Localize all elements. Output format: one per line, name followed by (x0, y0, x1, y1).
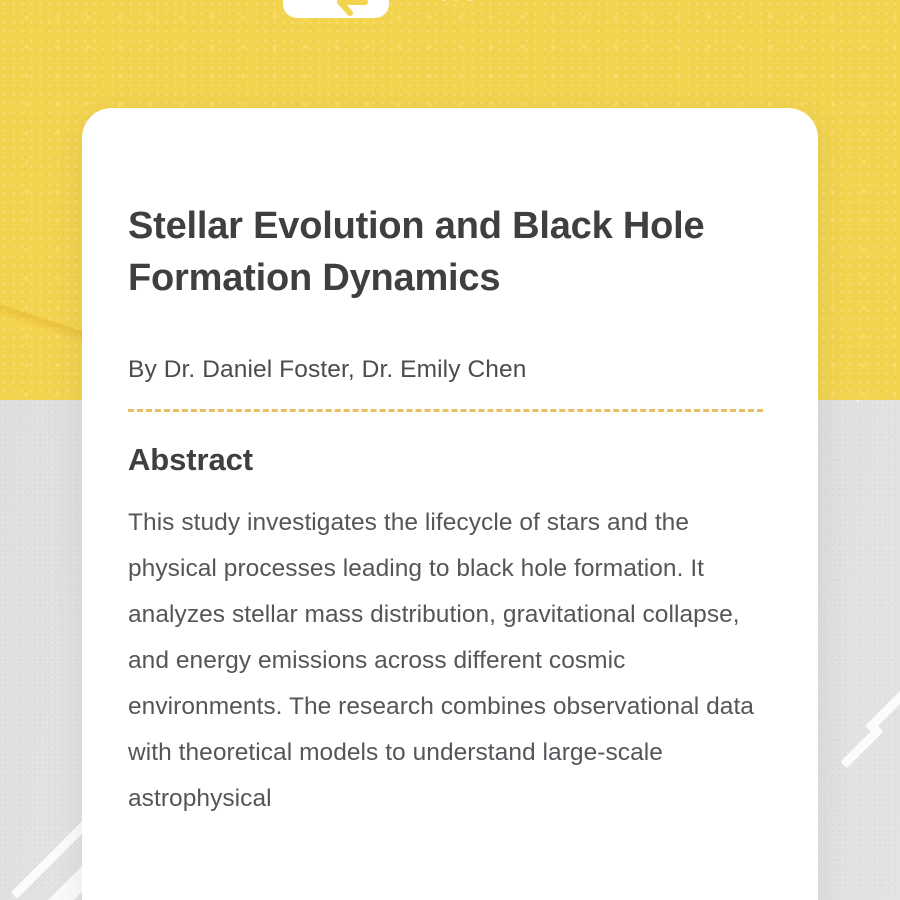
section-divider (128, 409, 763, 412)
back-button[interactable] (283, 0, 389, 18)
section-body-abstract: This study investigates the lifecycle of… (128, 500, 772, 822)
page-title: Stellar Evolution and Black Hole Formati… (128, 200, 728, 305)
back-navigation[interactable]: Back (283, 0, 503, 18)
back-button-label: Back (407, 0, 503, 7)
section-heading-abstract: Abstract (128, 442, 772, 478)
document-authors: By Dr. Daniel Foster, Dr. Emily Chen (128, 356, 772, 384)
document-card-content: Stellar Evolution and Black Hole Formati… (82, 108, 818, 822)
app-screen: Back Stellar Evolution and Black Hole Fo… (0, 0, 900, 900)
document-card: Stellar Evolution and Black Hole Formati… (82, 108, 818, 900)
